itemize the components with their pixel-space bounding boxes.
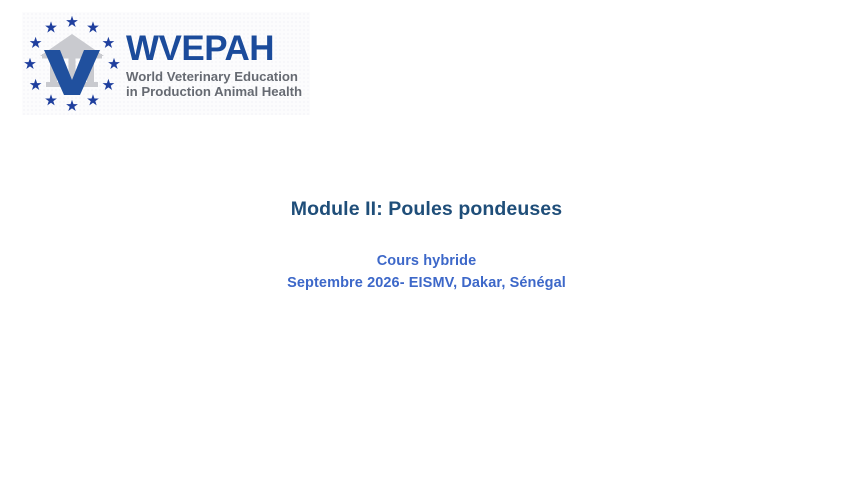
logo-text-group: WVEPAH World Veterinary Education in Pro… xyxy=(122,31,310,99)
wvepah-emblem-icon xyxy=(22,14,122,114)
wvepah-logo: WVEPAH World Veterinary Education in Pro… xyxy=(22,12,310,115)
logo-tagline-line-2: in Production Animal Health xyxy=(126,84,310,99)
presentation-slide: WVEPAH World Veterinary Education in Pro… xyxy=(0,0,853,480)
subtitle-block: Cours hybride Septembre 2026- EISMV, Dak… xyxy=(0,250,853,294)
title-block: Module II: Poules pondeuses xyxy=(0,196,853,222)
slide-title: Module II: Poules pondeuses xyxy=(0,196,853,222)
subtitle-line-date-location: Septembre 2026- EISMV, Dakar, Sénégal xyxy=(0,272,853,294)
logo-tagline-line-1: World Veterinary Education xyxy=(126,69,310,84)
subtitle-line-course-format: Cours hybride xyxy=(0,250,853,272)
logo-wordmark: WVEPAH xyxy=(126,31,310,67)
